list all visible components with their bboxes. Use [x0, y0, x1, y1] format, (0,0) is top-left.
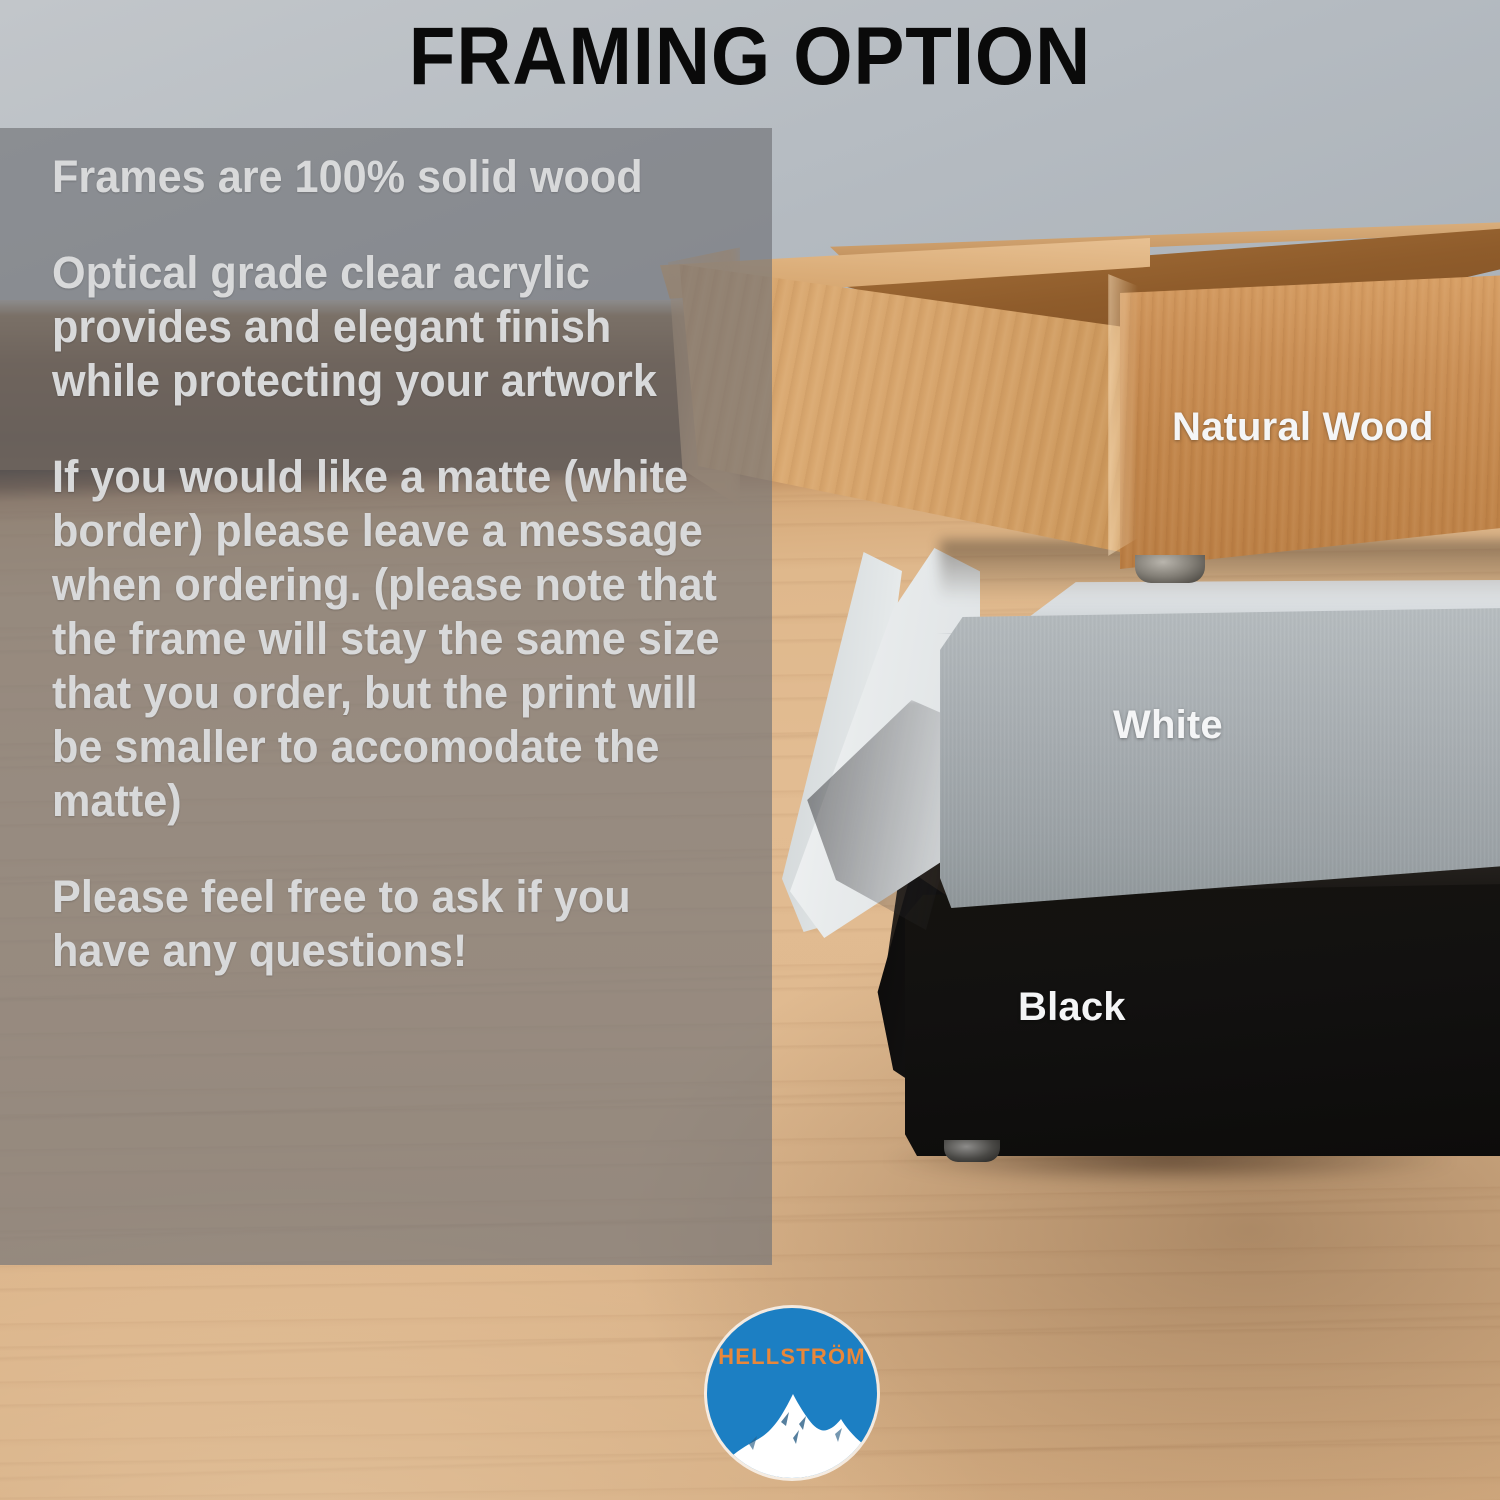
wood-frame-foot — [1135, 555, 1205, 583]
page-title: FRAMING OPTION — [53, 16, 1448, 98]
logo-wordmark: HELLSTRÖM — [707, 1344, 877, 1370]
info-paragraph-3: If you would like a matte (white border)… — [52, 450, 724, 828]
white-frame-texture — [940, 608, 1500, 908]
wood-frame-corner-highlight — [1108, 262, 1138, 562]
label-natural-wood: Natural Wood — [1172, 405, 1434, 450]
logo-circle-badge: HELLSTRÖM — [707, 1308, 877, 1478]
mountain-icon — [707, 1386, 877, 1478]
framing-option-graphic: Natural Wood White Black FRAMING OPTION … — [0, 0, 1500, 1500]
label-black: Black — [1018, 985, 1126, 1030]
label-white: White — [1113, 703, 1223, 748]
info-overlay-text: Frames are 100% solid wood Optical grade… — [52, 150, 724, 978]
info-paragraph-1: Frames are 100% solid wood — [52, 150, 724, 204]
black-frame-foot — [944, 1140, 1000, 1162]
info-paragraph-2: Optical grade clear acrylic provides and… — [52, 246, 724, 408]
info-paragraph-4: Please feel free to ask if you have any … — [52, 870, 724, 978]
brand-logo: HELLSTRÖM — [707, 1308, 877, 1478]
black-frame-front — [905, 884, 1500, 1156]
